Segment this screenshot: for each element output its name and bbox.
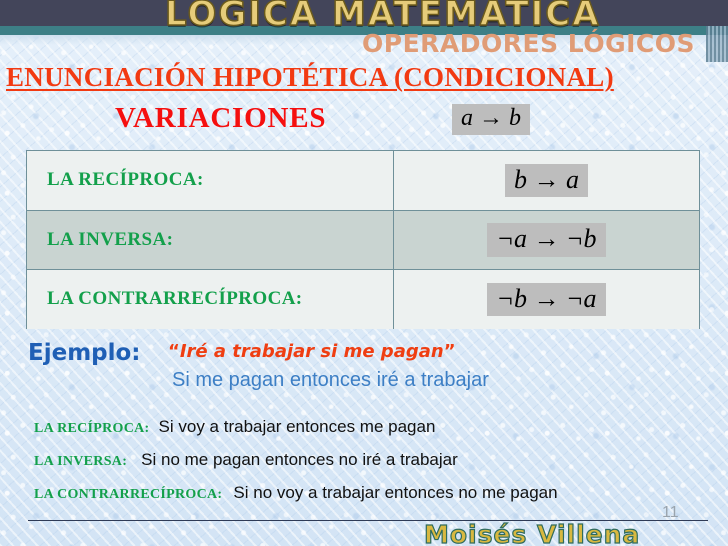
variation-label: LA INVERSA: [34,454,127,469]
slide-sub-title: OPERADORES LÓGICOS [362,29,695,58]
table-row: LA CONTRARRECÍPROCA: ¬b → ¬a [27,270,699,329]
table-row: LA RECÍPROCA: b → a [27,151,699,211]
variation-text: Si no voy a trabajar entonces no me paga… [233,483,557,502]
variation-label: LA CONTRARRECÍPROCA: [34,487,222,502]
implication-arrow-icon: → [534,224,560,253]
variations-table: LA RECÍPROCA: b → a LA INVERSA: ¬a → ¬b … [26,150,700,329]
table-cell-label: LA INVERSA: [27,211,394,270]
implication-arrow-icon: → [534,284,560,313]
quote-text: Iré a trabajar si me pagan [180,341,444,362]
base-formula-chip: a → b [452,104,530,135]
formula-right: a [566,165,579,194]
example-quote: “Iré a trabajar si me pagan” [168,341,456,362]
table-row: LA INVERSA: ¬a → ¬b [27,211,699,271]
formula-right: ¬b [566,224,597,253]
footer-author: Moisés Villena [424,520,640,546]
variation-text: Si voy a trabajar entonces me pagan [159,417,436,436]
formula-left: b [514,165,527,194]
table-cell-label: LA RECÍPROCA: [27,151,394,210]
base-formula-right: b [509,105,521,131]
example-variation-inversa: LA INVERSA:Si no me pagan entonces no ir… [34,450,458,470]
variation-text: Si no me pagan entonces no iré a trabaja… [141,450,458,469]
slide-canvas: LÓGICA MATEMÁTICA OPERADORES LÓGICOS ENU… [0,0,728,546]
formula-left: ¬a [496,224,527,253]
formula-left: ¬b [496,284,527,313]
implication-arrow-icon: → [479,105,503,131]
table-cell-label: LA CONTRARRECÍPROCA: [27,270,394,329]
table-cell-formula: ¬a → ¬b [394,211,699,270]
section-heading: ENUNCIACIÓN HIPOTÉTICA (CONDICIONAL) [6,62,614,93]
example-variation-contrarreciproca: LA CONTRARRECÍPROCA:Si no voy a trabajar… [34,483,558,503]
quote-open-mark: “ [168,341,180,362]
example-variation-reciproca: LA RECÍPROCA:Si voy a trabajar entonces … [34,417,435,437]
variation-label: LA RECÍPROCA: [34,421,150,436]
implication-arrow-icon: → [534,165,560,194]
base-formula-left: a [461,105,473,131]
table-cell-formula: ¬b → ¬a [394,270,699,329]
quote-close-mark: ” [444,341,456,362]
section-subheading: VARIACIONES [115,102,326,135]
formula-chip: b → a [505,164,588,197]
example-restated: Si me pagan entonces iré a trabajar [172,369,489,392]
table-cell-formula: b → a [394,151,699,210]
example-label: Ejemplo: [28,340,141,366]
formula-chip: ¬b → ¬a [487,283,605,316]
formula-chip: ¬a → ¬b [487,223,605,256]
formula-right: ¬a [566,284,597,313]
